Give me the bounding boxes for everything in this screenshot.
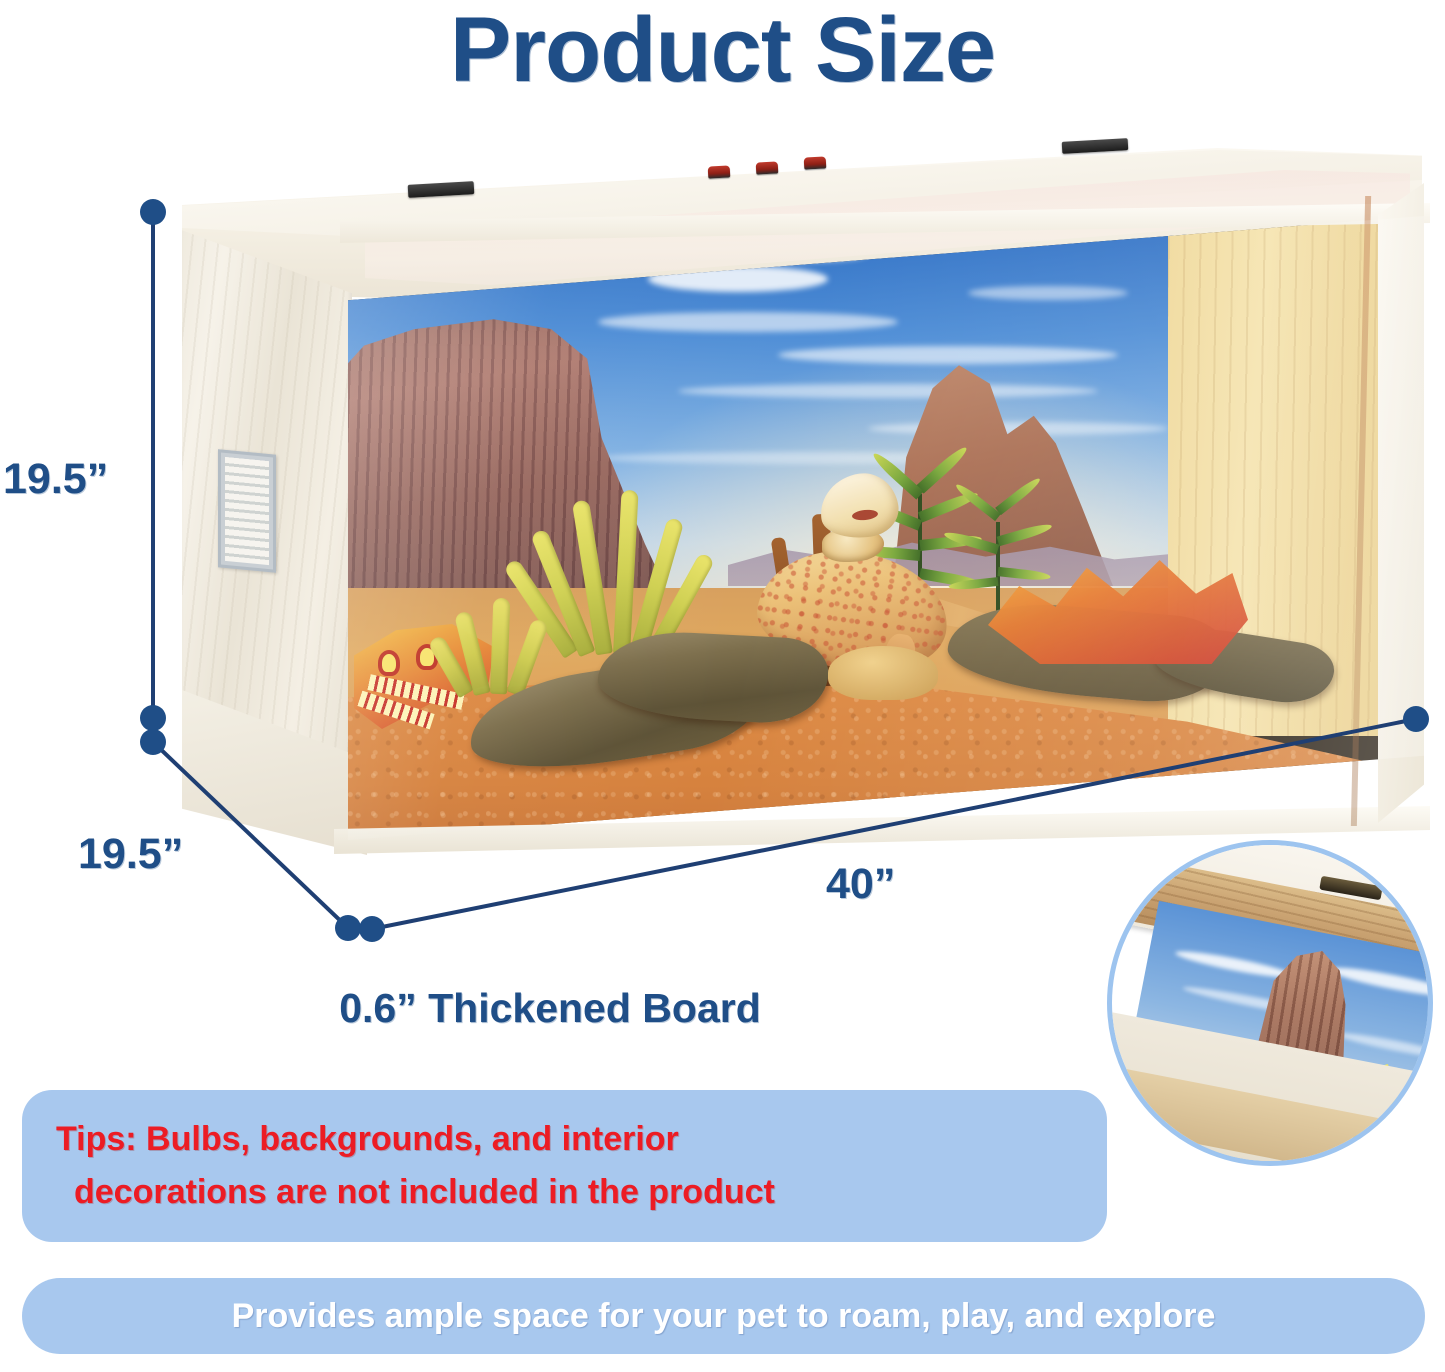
vent-louvers [225,457,269,565]
width-dimension-label: 40” [826,860,895,909]
lamp-fixture-1-icon [708,165,731,178]
product-size-infographic: Product Size [0,0,1445,1372]
depth-dimension-label: 19.5” [78,830,183,879]
feature-banner-text: Provides ample space for your pet to roa… [232,1297,1216,1336]
lamp-fixture-3-icon [804,156,827,169]
cloud [968,286,1128,300]
cactus-decoration-small [458,584,538,694]
lamp-fixture-2-icon [756,161,779,174]
enclosure-frame-right [1378,183,1424,823]
feature-banner: Provides ample space for your pet to roa… [22,1278,1425,1354]
tips-line-1: Tips: Bulbs, backgrounds, and interior [56,1113,1073,1166]
cloud [598,312,898,332]
closeup-content [1112,845,1428,1161]
board-thickness-label: 0.6” Thickened Board [0,985,1100,1032]
cloud [1174,947,1294,982]
basking-rock [828,646,938,700]
cloud [778,346,1118,364]
lid-hinge-right-icon [1062,138,1129,154]
cloud [678,384,1098,398]
skull-eye [378,650,400,676]
enclosure-illustration [0,0,1445,960]
side-ventilation-grille-icon [218,449,276,573]
tips-callout-box: Tips: Bulbs, backgrounds, and interior d… [22,1090,1107,1242]
tips-line-2: decorations are not included in the prod… [56,1166,1073,1219]
height-dimension-label: 19.5” [3,455,108,504]
enclosure-interior-view [348,216,1424,840]
cloud [1336,1029,1433,1062]
board-thickness-closeup-inset [1107,840,1433,1166]
